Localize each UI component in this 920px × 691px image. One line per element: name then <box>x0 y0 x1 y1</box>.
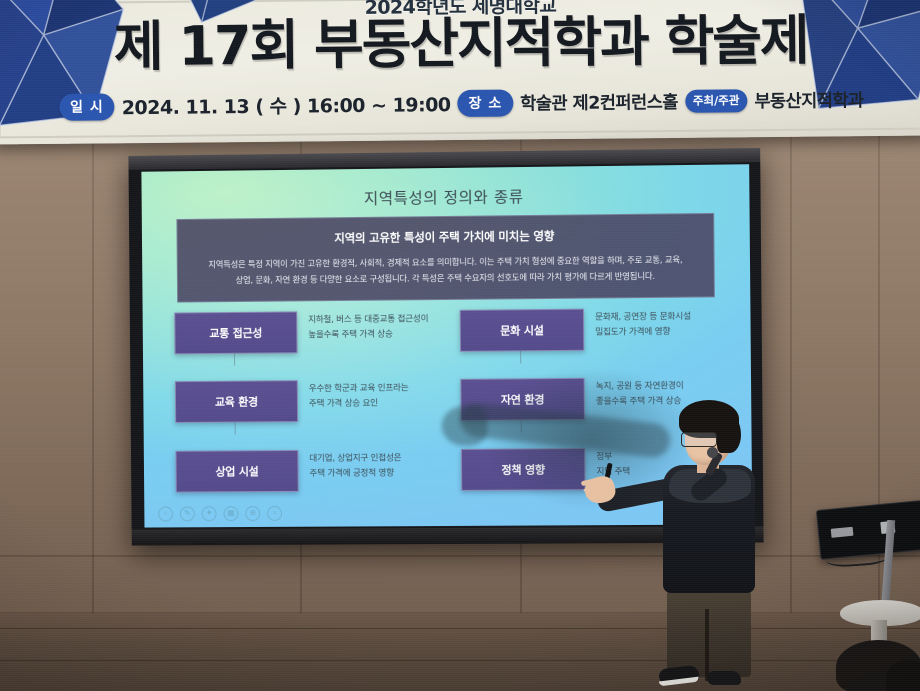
factor-description: 문화재, 공연장 등 문화시설 밀집도가 가격에 영향 <box>595 308 691 341</box>
trouser-seam <box>705 609 709 681</box>
factor-item: 교육 환경 우수한 학군과 교육 인프라는 주택 가격 상승 요인 <box>175 379 439 436</box>
host-pill-label: 주최/주관 <box>685 89 748 113</box>
presenter <box>585 395 765 691</box>
host-text: 부동산지적학과 <box>754 87 863 113</box>
wall-band <box>0 555 920 557</box>
next-slide-icon[interactable]: › <box>267 506 282 521</box>
slide-title: 지역특성의 정의와 종류 <box>142 182 750 211</box>
factor-label: 교육 환경 <box>175 381 298 424</box>
date-pill-label: 일 시 <box>59 93 115 121</box>
factor-label: 정책 영향 <box>461 448 586 491</box>
place-text: 학술관 제2컨퍼런스홀 <box>520 89 678 116</box>
factor-item: 상업 시설 대기업, 상업지구 인접성은 주택 가격에 긍정적 영향 <box>175 449 439 506</box>
factor-item: 문화 시설 문화재, 공연장 등 문화시설 밀집도가 가격에 영향 <box>460 307 727 365</box>
factor-desc-line-2: 밀집도가 가격에 영향 <box>595 325 691 341</box>
factor-desc-line-2: 주택 가격에 긍정적 영향 <box>309 466 401 482</box>
presenter-shoe <box>707 671 741 685</box>
factor-desc-line-1: 대기업, 상업지구 인접성은 <box>309 451 401 467</box>
event-banner: 2024학년도 세명대학교 제 17회 부동산지적학과 학술제 일 시 2024… <box>0 0 920 144</box>
pen-options-icon[interactable]: ✎ <box>180 506 195 521</box>
zoom-icon[interactable]: ⊕ <box>245 506 260 521</box>
pointer-icon[interactable]: ✦ <box>202 506 217 521</box>
floor <box>0 613 920 691</box>
slide-callout-box: 지역의 고유한 특성이 주택 가치에 미치는 영향 지역특성은 특정 지역이 가… <box>176 213 715 303</box>
floor-line <box>0 628 920 629</box>
monitor-label <box>831 527 854 538</box>
connector-line <box>520 349 521 363</box>
glasses-icon <box>681 432 717 447</box>
factor-label: 상업 시설 <box>175 450 298 493</box>
callout-heading: 지역의 고유한 특성이 주택 가치에 미치는 영향 <box>178 226 714 248</box>
floor-line <box>0 660 920 661</box>
conference-photo: 2024학년도 세명대학교 제 17회 부동산지적학과 학술제 일 시 2024… <box>0 0 920 691</box>
factor-desc-line-2: 높을수록 주택 가격 상승 <box>308 327 428 343</box>
presenter-legs <box>667 585 751 677</box>
factor-desc-line-1: 지하철, 버스 등 대중교통 접근성이 <box>308 312 428 328</box>
microphone-head <box>707 447 718 458</box>
factor-desc-line-1: 문화재, 공연장 등 문화시설 <box>595 310 691 326</box>
place-pill-label: 장 소 <box>457 90 513 118</box>
audience-head <box>886 660 920 691</box>
banner-title: 제 17회 부동산지적학과 학술제 <box>0 10 920 79</box>
presenter-hair-side <box>717 413 741 453</box>
factor-description: 우수한 학군과 교육 인프라는 주택 가격 상승 요인 <box>309 380 409 413</box>
factor-item: 교통 접근성 지하철, 버스 등 대중교통 접근성이 높을수록 주택 가격 상승 <box>174 310 438 368</box>
factor-desc-line-1: 우수한 학군과 교육 인프라는 <box>309 382 409 398</box>
connector-line <box>235 421 236 435</box>
factor-label: 교통 접근성 <box>174 311 297 354</box>
previous-slide-icon[interactable]: ‹ <box>158 507 173 522</box>
connector-line <box>521 419 522 433</box>
factor-label: 자연 환경 <box>460 378 585 421</box>
factor-label: 문화 시설 <box>460 309 585 352</box>
factor-description: 대기업, 상업지구 인접성은 주택 가격에 긍정적 영향 <box>309 449 401 482</box>
connector-line <box>234 352 235 366</box>
factor-desc-line-1: 녹지, 공원 등 자연환경이 <box>596 379 684 395</box>
factor-desc-line-2: 주택 가격 상승 요인 <box>309 397 409 413</box>
slideshow-toolbar[interactable]: ‹ ✎ ✦ ▦ ⊕ › <box>158 506 282 522</box>
slide-thumbnails-icon[interactable]: ▦ <box>223 506 238 521</box>
factor-description: 지하철, 버스 등 대중교통 접근성이 높을수록 주택 가격 상승 <box>308 310 428 343</box>
date-text: 2024. 11. 13 ( 수 ) 16:00 ~ 19:00 <box>122 90 451 120</box>
